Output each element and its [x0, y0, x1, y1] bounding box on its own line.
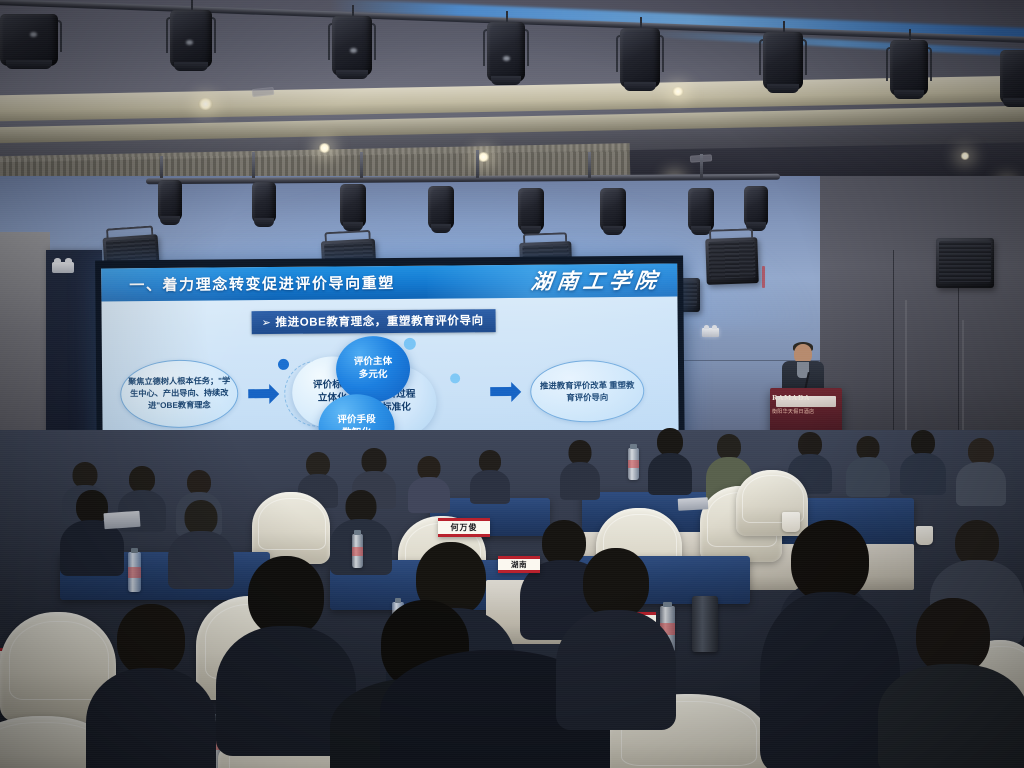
audience-person [560, 440, 600, 496]
stage-light-glint [350, 48, 357, 53]
person-head [117, 604, 185, 676]
stage-light [620, 28, 660, 88]
table-name-card: 何万俊 [438, 518, 490, 537]
stage-light-glint [503, 56, 510, 61]
stage-light [428, 186, 454, 230]
person-body [86, 668, 216, 768]
truss-rod [588, 152, 591, 178]
downlight [672, 87, 684, 96]
stage-light-body [332, 16, 372, 76]
person-body [648, 453, 692, 495]
stage-light [763, 32, 803, 90]
audience-person [900, 430, 946, 492]
stage-light-body [763, 32, 803, 90]
person-head [248, 556, 324, 636]
diagram-accent-dot [404, 338, 416, 350]
person-body [956, 462, 1006, 506]
person-head [791, 520, 869, 602]
person-body [878, 664, 1024, 768]
stage-light-lens [6, 60, 52, 69]
wall-speaker-array [936, 238, 994, 288]
diagram-left-ellipse: 聚焦立德树人根本任务；"学生中心、产出导向、持续改进"OBE教育理念 [120, 359, 239, 428]
emergency-light-icon [702, 328, 719, 337]
audience-person-foreground [556, 548, 676, 724]
person-body [900, 453, 946, 495]
stage-light-lens [603, 226, 624, 235]
bottle-label [128, 567, 141, 577]
stage-light [518, 188, 544, 232]
bottle-cap [131, 548, 138, 553]
hanging-cable [893, 250, 894, 450]
stage-light [340, 184, 366, 228]
diagram-right-ellipse: 推进教育评价改革 重塑教育评价导向 [530, 360, 645, 423]
stage-light [1000, 50, 1024, 104]
audience-person [648, 428, 692, 490]
stage-light-glint [186, 40, 193, 45]
slide-subtitle-banner: ➢推进OBE教育理念，重塑教育评价导向 [252, 309, 496, 334]
audience-person [846, 436, 890, 494]
stage-light-lens [254, 218, 273, 227]
speaker-grill [708, 240, 755, 279]
stage-light [252, 182, 276, 224]
thermos-flask [692, 596, 718, 652]
person-head [916, 598, 990, 674]
person-head [185, 500, 218, 535]
truss-rod [160, 156, 163, 178]
truss-rod [476, 150, 479, 178]
bottle-cap [630, 444, 636, 449]
truss-rod [700, 154, 703, 178]
stage-light-body [487, 22, 525, 82]
audience-person-foreground [86, 604, 216, 768]
stage-light-lens [336, 70, 368, 79]
diagram-accent-dot [450, 373, 460, 383]
water-bottle [628, 448, 639, 480]
person-body [408, 477, 450, 513]
stage-light-body [0, 14, 58, 66]
stage-light-body [170, 10, 212, 68]
arrow-right-icon: ➢ [262, 317, 272, 329]
emergency-light-icon [52, 262, 74, 273]
wall-speaker [705, 237, 759, 285]
podium-brand-text: RAMADA [772, 394, 822, 402]
downlight [318, 143, 331, 153]
slide-title: 一、着力理念转变促进评价导向重塑 [129, 272, 395, 295]
paper-cup [916, 526, 933, 545]
speaker-bracket [325, 230, 371, 242]
audience-person [408, 456, 450, 510]
audience-person-foreground [878, 598, 1024, 768]
speaker-bracket [709, 228, 753, 240]
person-body [470, 470, 510, 504]
truss-rod [360, 152, 363, 178]
downlight [198, 98, 213, 110]
stage-light-lens [491, 76, 521, 85]
conference-hall-photo: 一、着力理念转变促进评价导向重塑 湖南工学院 ➢推进OBE教育理念，重塑教育评价… [0, 0, 1024, 768]
university-logo: 湖南工学院 [529, 265, 663, 296]
stage-light-body [1000, 50, 1024, 104]
stage-light-lens [1003, 98, 1024, 107]
truss-rod [252, 152, 255, 178]
bottle-label [628, 460, 639, 468]
stage-light-lens [431, 224, 452, 233]
audience-person [60, 490, 124, 570]
stage-light [170, 10, 212, 68]
podium-sub-brand-text: 衡阳华天假日酒店 [772, 408, 838, 415]
downlight [960, 152, 970, 160]
stage-light [0, 14, 58, 66]
audience-person [470, 450, 510, 502]
stage-light-body [620, 28, 660, 88]
speaker-bracket [106, 225, 153, 238]
slide-subtitle-text: 推进OBE教育理念，重塑教育评价导向 [275, 315, 483, 329]
laptop [103, 511, 140, 529]
person-head [657, 428, 683, 456]
laptop [678, 497, 709, 511]
stage-light [332, 16, 372, 76]
person-body [846, 457, 890, 497]
stage-light [158, 180, 182, 222]
stage-light-lens [767, 84, 799, 93]
diagram-arrow-left [248, 389, 270, 398]
diagram-accent-dot [278, 359, 289, 370]
stage-light [744, 186, 768, 228]
stage-light-lens [160, 216, 179, 225]
stage-light-lens [624, 82, 656, 91]
person-body [560, 462, 600, 500]
presenter-person [782, 344, 824, 394]
stage-light [688, 188, 714, 232]
diagram-circle-subject: 评价主体 多元化 [336, 336, 411, 403]
person-body [556, 610, 676, 730]
diagram-arrow-right [490, 387, 512, 396]
wall-red-marker [762, 266, 765, 288]
audience-person [956, 438, 1006, 504]
stage-light-lens [894, 90, 924, 99]
bottle-label [352, 547, 363, 556]
stage-light-glint [30, 32, 37, 37]
speaker-bracket [523, 232, 567, 244]
stage-light [600, 188, 626, 232]
person-head [968, 438, 994, 465]
stage-light-lens [174, 62, 208, 71]
bottle-cap [354, 530, 360, 535]
person-head [129, 466, 155, 493]
stage-light [487, 22, 525, 82]
water-bottle [128, 552, 141, 592]
stage-light [890, 40, 928, 96]
stage-light-body [890, 40, 928, 96]
person-head [583, 548, 649, 618]
speaker-grill [939, 241, 991, 282]
